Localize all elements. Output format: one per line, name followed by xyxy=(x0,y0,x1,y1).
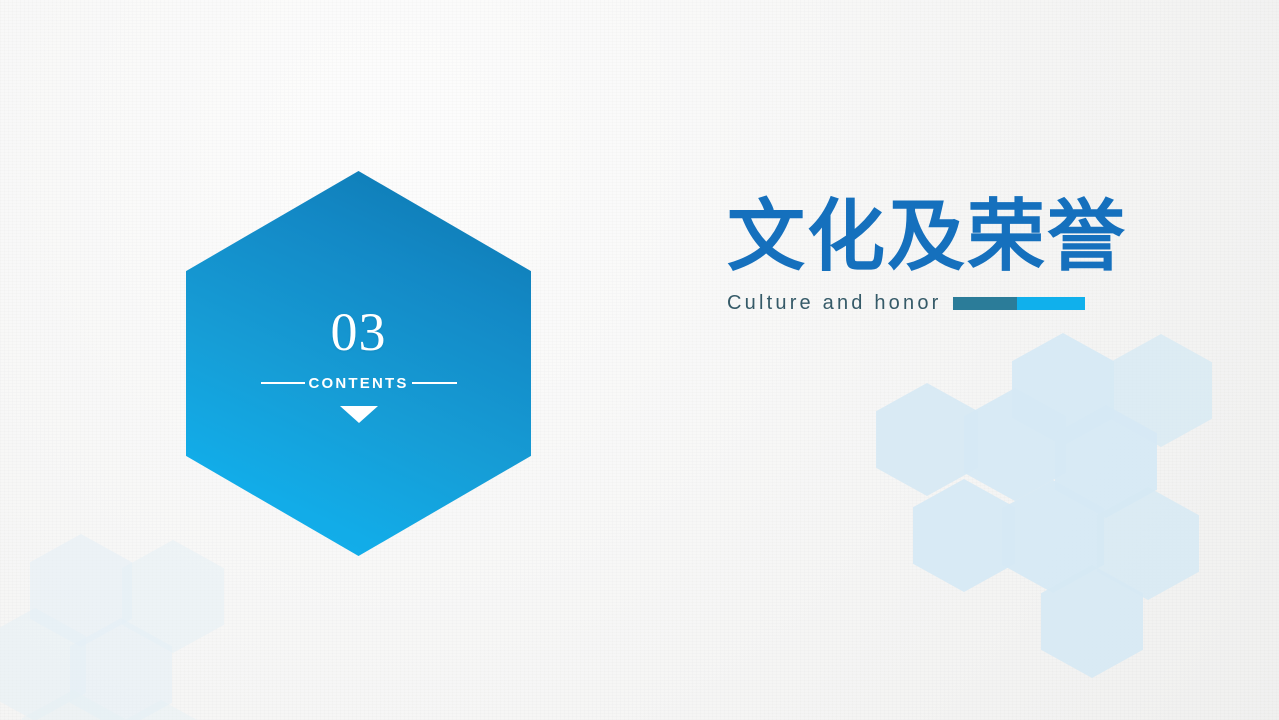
slide-content: 03 CONTENTS 文化及荣誉 Culture and honor xyxy=(0,0,1279,720)
accent-bar-left xyxy=(953,297,1017,310)
contents-row: CONTENTS xyxy=(261,375,457,392)
accent-bar-right xyxy=(1017,297,1085,310)
page-title: 文化及荣誉 xyxy=(727,196,1147,278)
contents-label: CONTENTS xyxy=(305,375,411,392)
section-number: 03 xyxy=(331,305,387,359)
title-block: 文化及荣誉 Culture and honor xyxy=(727,196,1147,315)
accent-bar xyxy=(953,297,1085,310)
rule-left xyxy=(261,382,306,384)
badge-inner: 03 CONTENTS xyxy=(186,171,531,556)
triangle-down-icon xyxy=(340,406,378,423)
rule-right xyxy=(412,382,457,384)
page-subtitle: Culture and honor xyxy=(727,292,942,315)
section-badge[interactable]: 03 CONTENTS xyxy=(186,171,531,556)
slide-canvas: 03 CONTENTS 文化及荣誉 Culture and honor xyxy=(0,0,1279,720)
subtitle-row: Culture and honor xyxy=(727,292,1147,315)
